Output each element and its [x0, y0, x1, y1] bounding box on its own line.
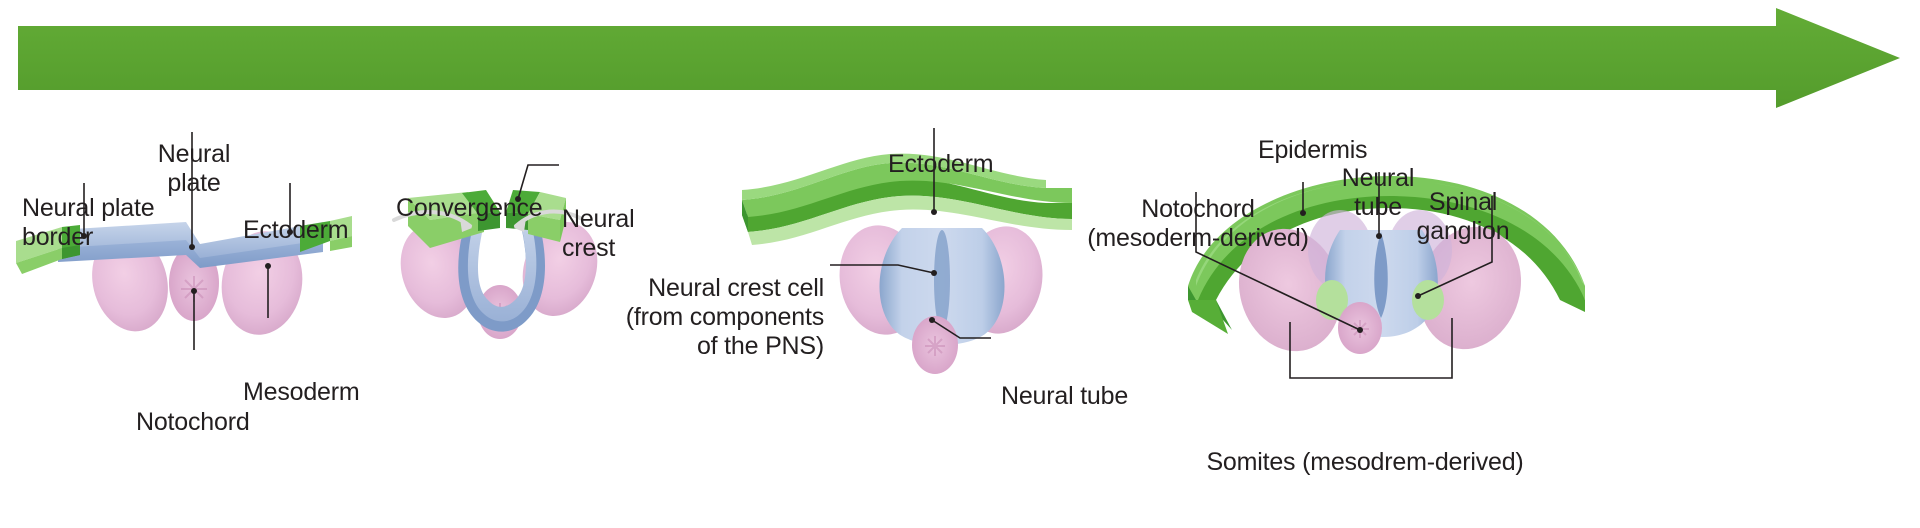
- ectoderm-label-stage1: Ectoderm: [243, 158, 348, 303]
- mesoderm-label-stage1: Mesoderm: [243, 320, 360, 465]
- notochord-mesoderm-derived-label: Notochord (mesoderm-derived): [1073, 137, 1323, 311]
- ectoderm-label-stage3: Ectoderm: [888, 92, 993, 237]
- somites-label: Somites (mesodrem-derived): [1200, 390, 1530, 528]
- neural-tube-label-stage3: Neural tube: [1001, 324, 1128, 469]
- spinal-ganglion-label: Spinal ganglion: [1404, 130, 1522, 304]
- notochord-label-stage1: Notochord: [136, 350, 250, 495]
- notochord-star-glyph: [925, 336, 945, 356]
- neural-plate-label: Neural plate: [130, 82, 258, 256]
- neural-crest-cell-label: Neural crest cell (from components of th…: [534, 216, 824, 419]
- neural-tube-lumen: [934, 230, 950, 330]
- convergence-label: Convergence: [396, 136, 543, 281]
- neurulation-diagram: Neural plate border Neural plate Ectoder…: [0, 0, 1920, 528]
